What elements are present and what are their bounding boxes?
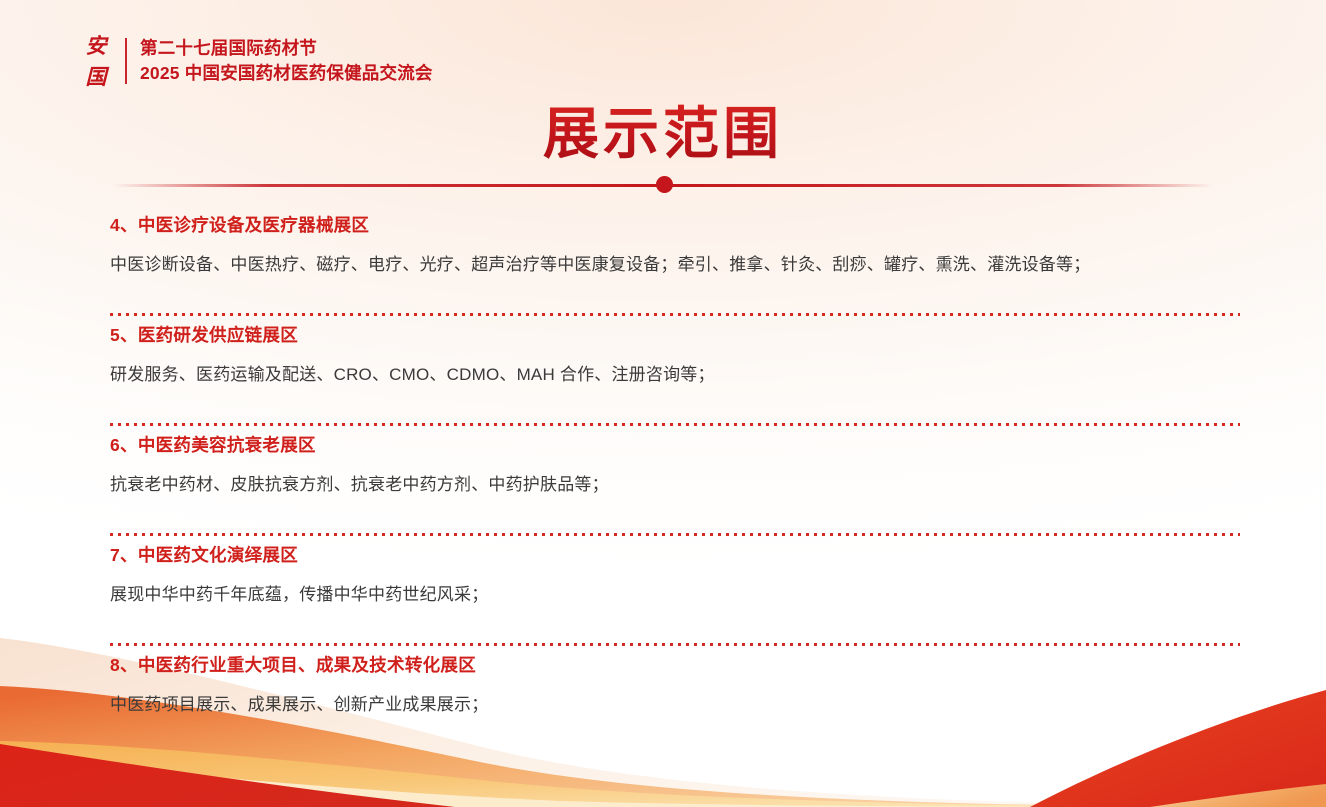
title-divider: [113, 176, 1213, 194]
entry-body: 展现中华中药千年底蕴，传播中华中药世纪风采；: [110, 567, 1240, 608]
page-title-wrapper: 展示范围: [0, 102, 1326, 166]
exhibition-scope-list: 4、中医诊疗设备及医疗器械展区 中医诊断设备、中医热疗、磁疗、电疗、光疗、超声治…: [110, 206, 1240, 756]
entry-heading: 8、中医药行业重大项目、成果及技术转化展区: [110, 646, 1240, 677]
brand-line-primary: 第二十七届国际药材节: [140, 36, 433, 61]
entry-body: 中医诊断设备、中医热疗、磁疗、电疗、光疗、超声治疗等中医康复设备；牵引、推拿、针…: [110, 237, 1240, 278]
brand-text-block: 第二十七届国际药材节 2025 中国安国药材医药保健品交流会: [140, 33, 433, 89]
entry-heading: 7、中医药文化演绎展区: [110, 536, 1240, 567]
brand-lockup: 安 国 第二十七届国际药材节 2025 中国安国药材医药保健品交流会: [78, 33, 433, 89]
slide-root: 安 国 第二十七届国际药材节 2025 中国安国药材医药保健品交流会 展示范围 …: [0, 0, 1326, 807]
seal-char-top: 安: [86, 33, 107, 58]
brand-line-secondary: 2025 中国安国药材医药保健品交流会: [140, 61, 433, 86]
entry-body: 研发服务、医药运输及配送、CRO、CMO、CDMO、MAH 合作、注册咨询等；: [110, 347, 1240, 388]
entry-body: 抗衰老中药材、皮肤抗衰方剂、抗衰老中药方剂、中药护肤品等；: [110, 457, 1240, 498]
brand-divider: [125, 38, 127, 84]
list-item: 6、中医药美容抗衰老展区 抗衰老中药材、皮肤抗衰方剂、抗衰老中药方剂、中药护肤品…: [110, 426, 1240, 536]
entry-heading: 5、医药研发供应链展区: [110, 316, 1240, 347]
entry-heading: 6、中医药美容抗衰老展区: [110, 426, 1240, 457]
list-item: 4、中医诊疗设备及医疗器械展区 中医诊断设备、中医热疗、磁疗、电疗、光疗、超声治…: [110, 206, 1240, 316]
anguo-seal-icon: 安 国: [78, 33, 114, 89]
list-item: 7、中医药文化演绎展区 展现中华中药千年底蕴，传播中华中药世纪风采；: [110, 536, 1240, 646]
entry-body: 中医药项目展示、成果展示、创新产业成果展示；: [110, 677, 1240, 718]
seal-char-bottom: 国: [86, 64, 107, 89]
title-divider-dot-icon: [656, 176, 673, 193]
page-title: 展示范围: [543, 102, 783, 166]
list-item: 8、中医药行业重大项目、成果及技术转化展区 中医药项目展示、成果展示、创新产业成…: [110, 646, 1240, 756]
list-item: 5、医药研发供应链展区 研发服务、医药运输及配送、CRO、CMO、CDMO、MA…: [110, 316, 1240, 426]
entry-heading: 4、中医诊疗设备及医疗器械展区: [110, 206, 1240, 237]
